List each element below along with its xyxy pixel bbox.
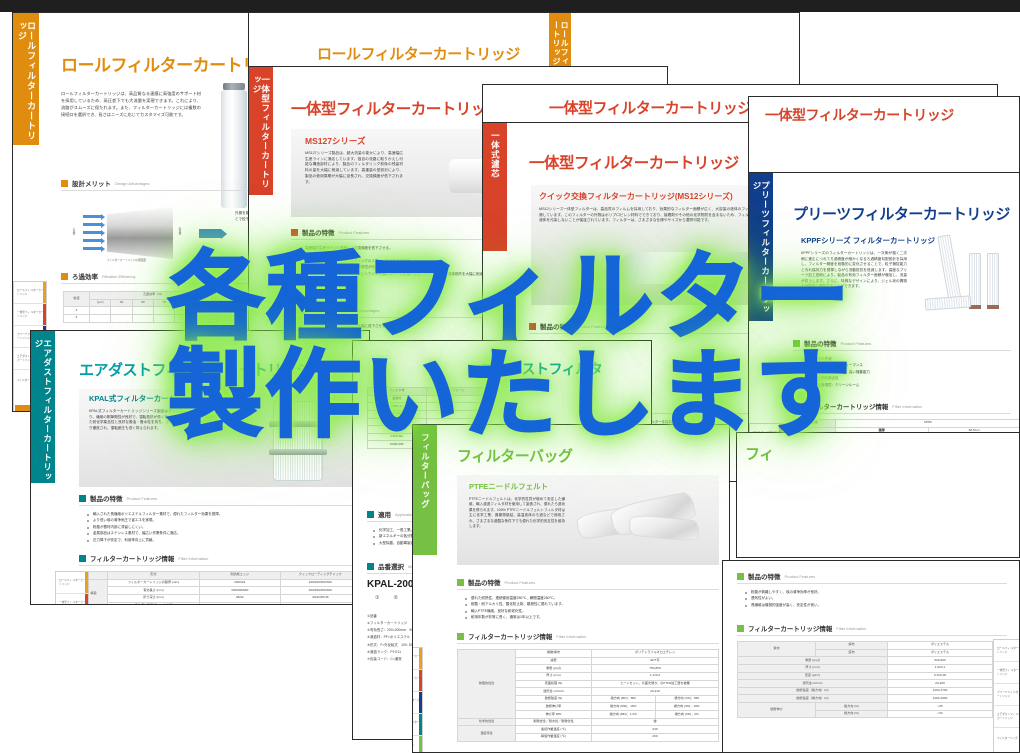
mini-nav-item-bag[interactable]: フィルターバッグ xyxy=(412,736,422,753)
kppf-product-image xyxy=(917,235,1020,321)
section-product-features-kppf: 製品の特徴 Product Features xyxy=(793,338,871,348)
mini-nav-item-air-dust[interactable]: エアダストフィ ルターカートリッジ xyxy=(412,714,422,736)
slide-air-dust-kpal[interactable]: エアダストフィルターカートリッジ エアダストフィルターカートリッジ KPAL式フ… xyxy=(30,330,370,605)
digit-marker-1: ① xyxy=(375,595,393,601)
table-row: フィルタ材 メンブレーン xyxy=(368,388,485,396)
list-item: 耐用年数が非常に長く、通常は1年以上です。 xyxy=(465,614,565,620)
list-item: 設計によりフィルターカートリッジとハウジング間のスペースを減少させ、ハウジング内… xyxy=(299,271,486,277)
table-row: 折り返し膜厚/チャック仕様 135/355 DN40/DN80/DN65/DN8… xyxy=(80,602,361,605)
section-product-features-kpal: 製品の特徴 Product Features xyxy=(79,493,157,503)
intro-text-ms127: MS127シリーズ製品は、超大流量の能かにより、高速幅広生産ラインに適応していま… xyxy=(305,151,403,185)
nav-color-bar xyxy=(43,304,46,325)
subtitle-ptfe: PTFEニードルフェルト xyxy=(469,481,548,492)
section-filter-information-kppf: フィルターカートリッジ情報 Filter Information xyxy=(793,401,922,411)
table-row: 密度 (g/m³) 0.3±0.05 xyxy=(738,672,993,680)
table-row: 破断強度（縦方向）(N) 1200-1700 xyxy=(738,687,993,695)
table-row: 通気性m³/m²/s 20-200 xyxy=(738,680,993,688)
section-marker-icon xyxy=(737,573,744,580)
section-marker-icon xyxy=(457,633,464,640)
table-row: 素材 繊布 ポリエステル xyxy=(738,642,993,650)
subtitle-ms127: MS127シリーズ xyxy=(305,135,366,147)
list-item: 圧力降下が安定で、利用率向上に貢献。 xyxy=(87,537,222,543)
mini-nav-item-roll[interactable]: ロールフィ ルターカートリッジ xyxy=(56,572,88,594)
polyester-spec-table: 素材 繊布 ポリエステル 底布 ポリエステル 重量 (g/㎡) 520-600 … xyxy=(737,641,993,718)
table-row: 形式 耐熱紙エッジ クイックローディングチャック xyxy=(80,572,361,580)
table-row: 化学的性質 耐酸食性／耐水性／耐酸化性 優 xyxy=(458,718,719,726)
ptfe-spec-table: 物理的性質 繊維/素布 ポリテトラフルオロエチレン 濾層 EPT可 重量 (g/… xyxy=(457,649,719,742)
table-row: 破断強度（横方向）(N) 1200-1500 xyxy=(738,695,993,703)
nav-color-bar xyxy=(419,692,422,713)
section-filtration-efficiency: ろ過効率 Filtration Efficiency xyxy=(61,271,136,281)
nav-color-bar xyxy=(419,736,422,753)
nav-color-bar xyxy=(419,714,422,735)
section-product-features-ms127: 製品の特徴 Product Features xyxy=(291,227,369,237)
nav-color-bar xyxy=(85,594,88,605)
section-filter-information-kpal: フィルターカートリッジ情報 Filter Information xyxy=(79,553,208,563)
page-title-integrated-ms12: 一体型フィルターカートリッジ xyxy=(529,151,739,173)
slide-tab-air-dust: エアダストフィルターカートリッジ xyxy=(31,331,55,483)
slide-pleated-header[interactable]: 一体型フィルターカートリッジ xyxy=(748,96,1020,180)
mini-navigator[interactable]: ロールフィ ルターカートリッジ 一体型フィ ルターカートリッジ プリーツフィ ル… xyxy=(55,571,89,605)
mini-nav-item-bag[interactable]: フィルターバッグ xyxy=(994,728,1020,750)
mini-nav-item-pleated[interactable]: プリーツフィ ルターカートリッジ xyxy=(994,684,1020,706)
mini-nav-item-roll[interactable]: ロールフィ ルターカートリッジ xyxy=(14,282,46,304)
feature-list-kppf: 交換頻度の低減 長寿命、高いコストパフォーマンス ろ過精度勾配フィルター、高い捕… xyxy=(801,356,870,388)
application-list: 化学加工、一般工業。 新エネルギーの各分野。 大型除塵、自動車製造。 xyxy=(373,527,418,546)
slide-tab-integrated-ms12: 一体式濾芯 xyxy=(483,123,507,251)
intro-text-kppf: KPPFシリーズのフィルターカートリッジは、一次側が粗く二次側に進むにつれてろ過… xyxy=(801,251,907,290)
table-row: KIPD-N6071 xyxy=(368,410,485,418)
intro-text-ms12: MS12シリーズ一体型フィルターは、高品質のフィルムを採用しており、効果的なフィ… xyxy=(539,207,771,224)
feature-list-ms127: 高速幅広生産ラインに適用し、交換頻度を低下させる。 交換方法が安全かつ容易です。… xyxy=(299,245,486,277)
section-design-advantages: 設計メリット Design Advantages xyxy=(61,178,149,188)
mini-nav-item-air-dust[interactable]: エアダストフィ ルターカートリッジ xyxy=(994,706,1020,728)
slide-tab-filter-bag: フィルターバッグ xyxy=(413,425,437,555)
section-marker-icon xyxy=(737,625,744,632)
section-marker-icon xyxy=(457,579,464,586)
page-title-kpal-selection: エアダストフィルタ xyxy=(481,359,602,379)
page-title-pleated: プリーツフィルターカートリッジ xyxy=(793,203,1010,224)
mini-nav-item-integrated[interactable]: 一体型フィ ルターカートリッジ xyxy=(56,594,88,605)
section-marker-icon xyxy=(61,180,68,187)
filtration-efficiency-table: 粒径 ろ過効率（%） （μm） 30 50 70 90 100 3 5 xyxy=(63,291,218,323)
section-marker-icon xyxy=(367,563,374,570)
table-row: 折り深さ (mm) 48/32 40/42/45/48 xyxy=(80,594,361,602)
intro-text-ptfe: PTFEニードルフェルトは、化学的性質が極めて安定した繊維、輸入濾過フィルタ材を… xyxy=(469,497,565,530)
table-row: 5 xyxy=(64,314,218,322)
mini-nav-item-roll[interactable]: ロールフィ ルターカートリッジ xyxy=(994,640,1020,662)
page-title-air-dust: エアダストフィルターカートリッジ xyxy=(79,359,311,380)
table-row: 重量 (g/㎡) 520-600 xyxy=(738,657,993,665)
slide-tab-integrated-ms127: 一体型フィルターカートリッジ xyxy=(249,67,273,195)
intro-text-roll-filter: ロールフィルターカートリッジは、高品質なる連膜に高強度のサポート材を採用している… xyxy=(61,91,201,119)
table-row: 3 xyxy=(64,307,218,315)
section-filter-information-ptfe: フィルターカートリッジ情報 Filter Information xyxy=(457,631,586,641)
section-product-features-ptfe: 製品の特徴 Product Features xyxy=(457,577,535,587)
kpal-spec-table: 形式 耐熱紙エッジ クイックローディングチャック 構造 フィルターカートリッジの… xyxy=(79,571,361,605)
slide-polyester-bag[interactable]: 製品の特徴 Product Features 粉塵が剥離しやすく、埃の清浄効率が… xyxy=(722,560,1020,753)
table-row: 構造 フィルターカートリッジの膜厚 (mm) 200/324 160/200/3… xyxy=(80,579,361,587)
feature-list-ptfe: 優れた耐熱性、連続使用温度250℃、瞬間温度260℃。 耐酸・耐アルカリ性、酸化… xyxy=(465,595,565,621)
table-row: 厚さ (mm) 1.9±0.1 xyxy=(738,664,993,672)
section-marker-icon xyxy=(793,340,800,347)
page-title-integrated-header: 一体型フィルターカートリッジ xyxy=(549,97,752,118)
feature-list-polyester: 粉塵が剥離しやすく、埃の清浄効率が良好。 透気性がよい。 長繊維は機械的強度が高… xyxy=(745,589,821,608)
table-row: 濾過材 xyxy=(368,395,485,403)
filter-bag-product-image xyxy=(577,491,705,553)
table-row: 有効長さ (mm) 330/600/660 200/250/300/400 xyxy=(80,587,361,595)
table-row: 温度特性 連続作業温度 (℃) 240 xyxy=(458,726,719,734)
table-row: 破断伸び 縦方向 (%) <25 xyxy=(738,703,993,711)
slide-tab-pleated: プリーツフィルターカートリッジ xyxy=(749,173,773,321)
section-marker-icon xyxy=(291,229,298,236)
mini-nav-item-pleated[interactable]: プリーツフィ ルターカートリッジ xyxy=(412,692,422,714)
section-marker-icon xyxy=(79,495,86,502)
section-filter-information-polyester: フィルターカートリッジ情報 Filter Information xyxy=(737,623,866,633)
section-product-features-ms12: 製品の特徴 Product Features xyxy=(529,321,607,331)
section-product-features-polyester: 製品の特徴 Product Features xyxy=(737,571,815,581)
top-bar xyxy=(0,0,1020,12)
catalog-collage: ロールフィルターカートリッジ ロールフィルターカートリッジ ロールフィルターカー… xyxy=(0,0,1020,753)
slide-filter-bag-partial[interactable]: フィ xyxy=(736,432,1020,558)
table-row: 物理的性質 繊維/素布 ポリテトラフルオロエチレン xyxy=(458,650,719,658)
feature-list-kpal: 輸入された長繊維ポリエステルフィルター素材で、優れたフィルター効果を発揮。 より… xyxy=(87,511,222,543)
nav-color-bar xyxy=(43,282,46,303)
slide-tab-roll-filter: ロールフィルターカートリッジ xyxy=(13,13,39,145)
mini-nav-item-integrated[interactable]: 一体型フィ ルターカートリッジ xyxy=(412,670,422,692)
mini-nav-item-integrated[interactable]: 一体型フィ ルターカートリッジ xyxy=(14,304,46,326)
table-row: K360-N xyxy=(368,403,485,411)
diagram-caption: フィルターカートリッジの断面図 xyxy=(107,259,146,263)
section-marker-icon xyxy=(79,555,86,562)
mini-navigator[interactable]: ロールフィ ルターカートリッジ 一体型フィ ルターカートリッジ プリーツフィ ル… xyxy=(993,639,1020,753)
slide-filter-bag[interactable]: フィルターバッグ フィルターバッグ PTFEニードルフェルト PTFEニードルフ… xyxy=(412,424,730,753)
page-title-integrated-ms127: 一体型フィルターカートリッジ xyxy=(291,97,501,119)
mini-nav-item-roll[interactable]: ロールフィ ルターカートリッジ xyxy=(412,648,422,670)
section-application: 適用 Application xyxy=(367,509,415,519)
table-row: 品番 KPPF xyxy=(794,420,1020,428)
nav-color-bar xyxy=(419,648,422,669)
section-marker-icon xyxy=(529,323,536,330)
kpal-product-image xyxy=(259,393,345,485)
list-item: 大型除塵、自動車製造。 xyxy=(373,540,418,546)
section-marker-icon xyxy=(291,307,298,314)
page-title-roll-secondary: ロールフィルターカートリッジ xyxy=(317,43,520,64)
section-marker-icon xyxy=(61,273,68,280)
nav-color-bar xyxy=(419,670,422,691)
intro-text-kpal: KPAL式フィルターカートリッジシリーズ製品はすべて高品質なポリエステル基材を採… xyxy=(89,409,245,431)
subtitle-kpal: KPAL式フィルターカートリッジ xyxy=(89,393,199,404)
section-marker-icon xyxy=(367,511,374,518)
list-item: 長繊維は機械的強度が高く、安定性が良い。 xyxy=(745,602,821,608)
page-title-pleated-header: 一体型フィルターカートリッジ xyxy=(765,105,954,125)
list-item: 製品の製造環境：クリーンルーム xyxy=(801,382,870,388)
mini-navigator[interactable]: ロールフィ ルターカートリッジ 一体型フィ ルターカートリッジ プリーツフィ ル… xyxy=(412,647,423,753)
page-title-filter-bag-partial: フィ xyxy=(745,443,774,464)
subtitle-ms12: クイック交換フィルターカートリッジ(MS12シリーズ) xyxy=(539,191,733,202)
page-title-filter-bag: フィルターバッグ xyxy=(457,445,573,466)
mini-nav-item-integrated[interactable]: 一体型フィ ルターカートリッジ xyxy=(994,662,1020,684)
section-design-advantages-ms127: 設計の優位性 Design Advantages xyxy=(291,305,379,315)
subtitle-kppf: KPPFシリーズ フィルターカートリッジ xyxy=(801,235,935,246)
digit-marker-2: ② xyxy=(393,595,411,601)
nav-color-bar xyxy=(85,572,88,593)
section-marker-icon xyxy=(793,403,800,410)
